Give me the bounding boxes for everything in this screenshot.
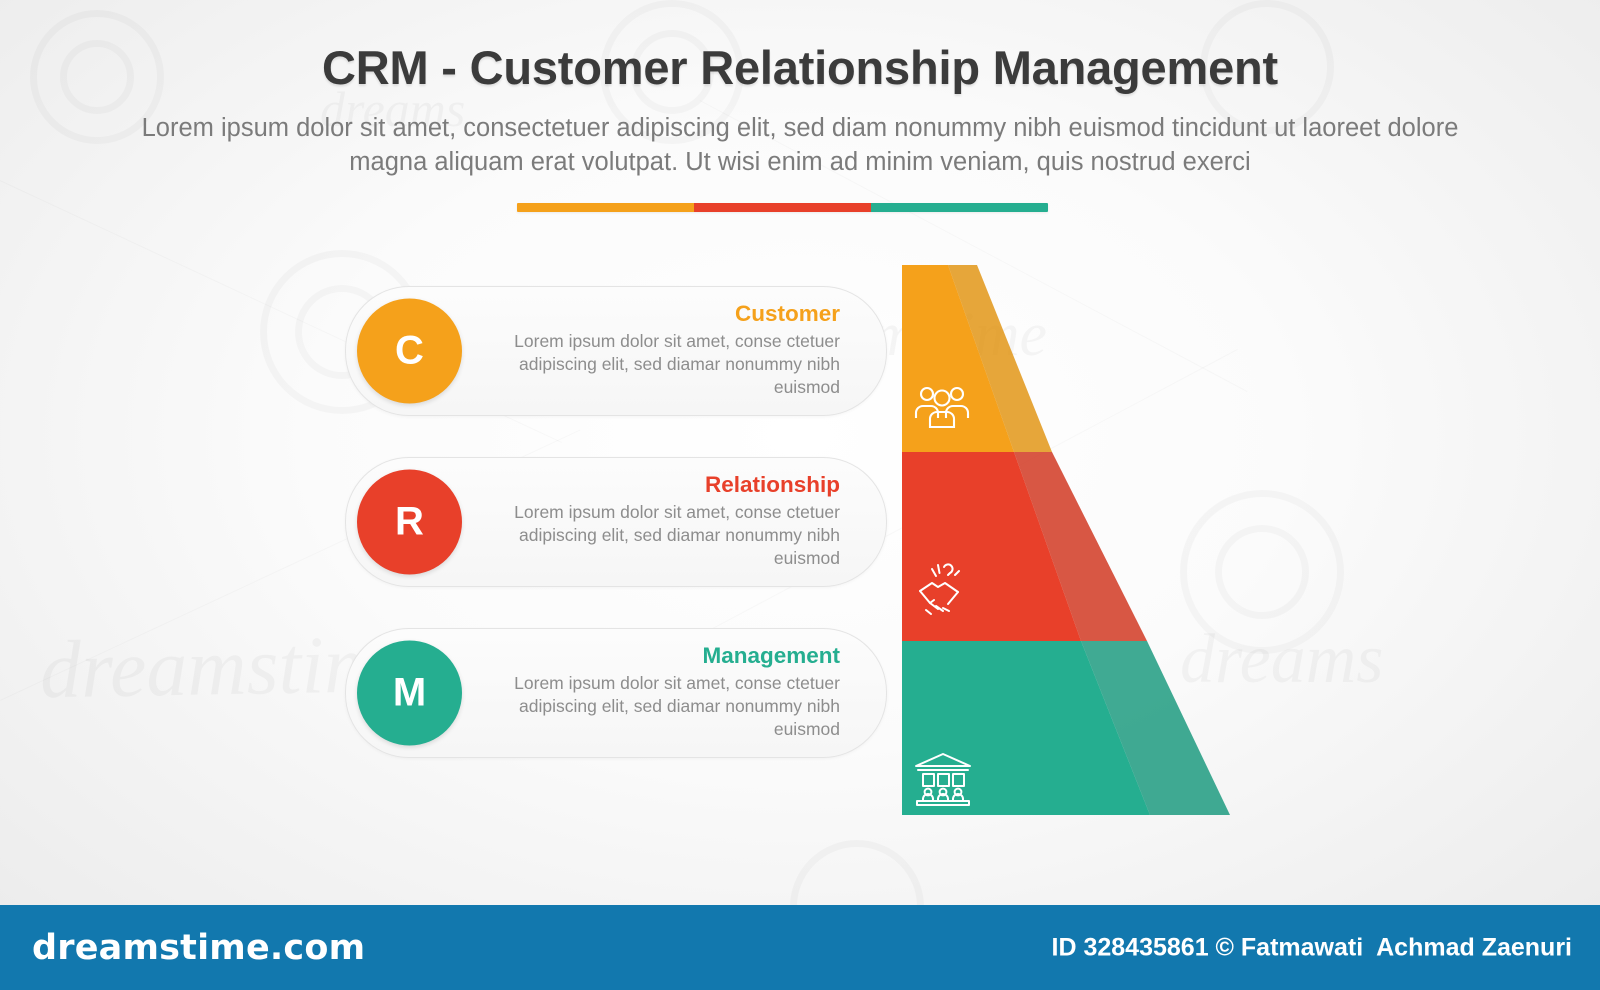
card-text-block: Relationship Lorem ipsum dolor sit amet,… xyxy=(510,473,840,571)
card-title-relationship: Relationship xyxy=(510,473,840,498)
divider-segment-red xyxy=(694,203,871,212)
badge-relationship: R xyxy=(357,470,462,575)
card-text-block: Management Lorem ipsum dolor sit amet, c… xyxy=(510,644,840,742)
badge-letter: C xyxy=(395,329,424,374)
image-credit: ID 328435861 © Fatmawati Achmad Zaenuri xyxy=(1052,933,1572,962)
card-desc-relationship: Lorem ipsum dolor sit amet, conse ctetue… xyxy=(510,501,840,571)
card-title-customer: Customer xyxy=(510,302,840,327)
card-list: C Customer Lorem ipsum dolor sit amet, c… xyxy=(345,286,885,758)
handshake-icon xyxy=(912,561,972,617)
color-divider-bar xyxy=(517,203,1048,212)
badge-letter: R xyxy=(395,500,424,545)
card-desc-management: Lorem ipsum dolor sit amet, conse ctetue… xyxy=(510,672,840,742)
badge-customer: C xyxy=(357,299,462,404)
header: CRM - Customer Relationship Management L… xyxy=(0,0,1600,180)
footer-bar: dreamstime.com ID 328435861 © Fatmawati … xyxy=(0,905,1600,990)
card-relationship[interactable]: R Relationship Lorem ipsum dolor sit ame… xyxy=(345,457,887,587)
badge-management: M xyxy=(357,641,462,746)
canvas-background: dreamstime dreamstime dreams dreams CRM … xyxy=(0,0,1600,990)
people-group-icon xyxy=(914,385,970,429)
card-text-block: Customer Lorem ipsum dolor sit amet, con… xyxy=(510,302,840,400)
page-title: CRM - Customer Relationship Management xyxy=(0,0,1600,95)
page-subtitle: Lorem ipsum dolor sit amet, consectetuer… xyxy=(135,111,1465,180)
card-title-management: Management xyxy=(510,644,840,669)
divider-segment-teal xyxy=(871,203,1048,212)
card-desc-customer: Lorem ipsum dolor sit amet, conse ctetue… xyxy=(510,330,840,400)
card-customer[interactable]: C Customer Lorem ipsum dolor sit amet, c… xyxy=(345,286,887,416)
badge-letter: M xyxy=(393,671,426,716)
institution-people-icon xyxy=(912,751,974,807)
card-management[interactable]: M Management Lorem ipsum dolor sit amet,… xyxy=(345,628,887,758)
pyramid-chart xyxy=(902,265,1232,815)
logo-text: dreamstime.com xyxy=(32,928,365,968)
divider-segment-orange xyxy=(517,203,694,212)
dreamstime-logo[interactable]: dreamstime.com xyxy=(32,928,365,968)
